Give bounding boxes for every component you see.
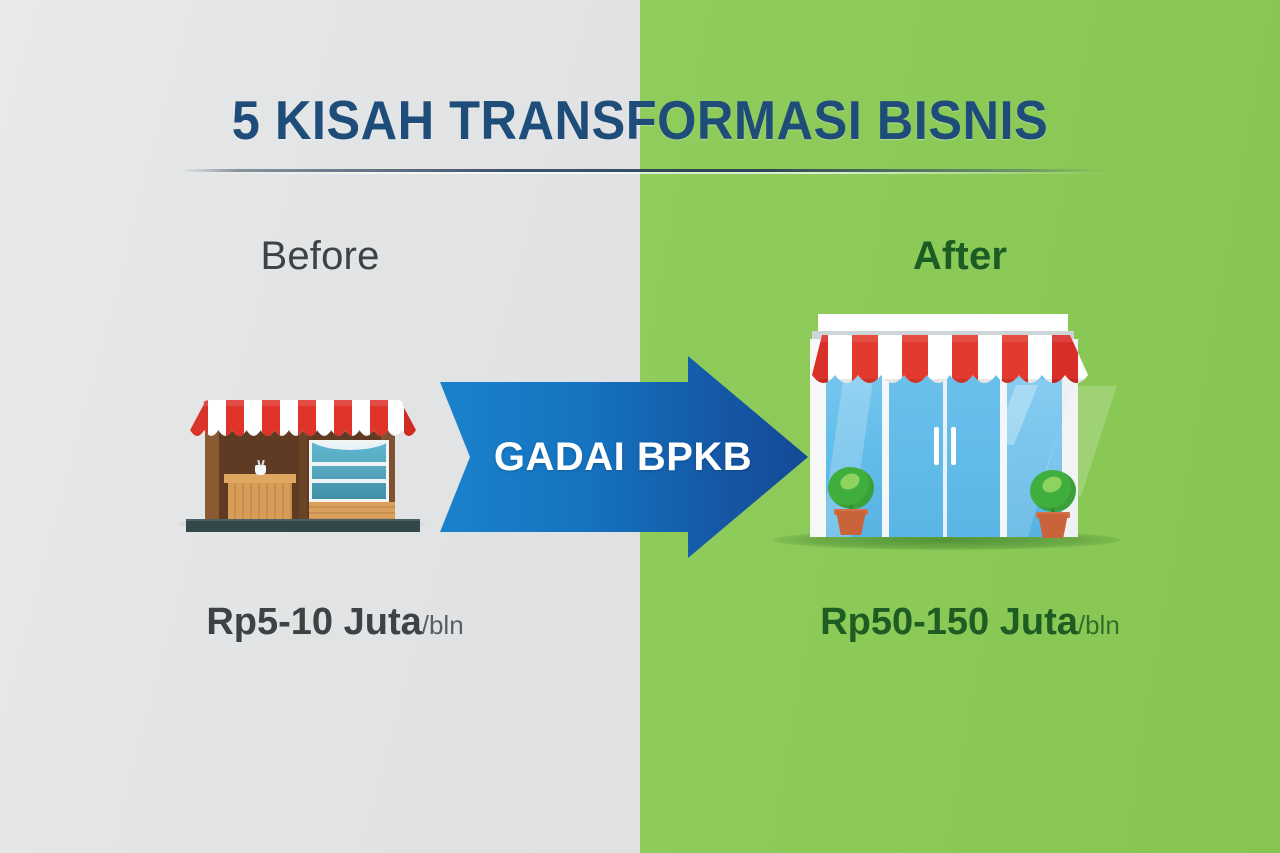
before-illustration-small-kiosk bbox=[178, 388, 428, 553]
kiosk-window-glass bbox=[312, 443, 386, 499]
potted-plant-left bbox=[824, 467, 878, 537]
potted-plant-right bbox=[1026, 470, 1080, 540]
plant-pot bbox=[836, 511, 866, 535]
after-illustration-modern-store bbox=[786, 312, 1106, 554]
kiosk-window-divider-1 bbox=[312, 462, 386, 466]
store-striped-awning bbox=[804, 335, 1088, 397]
before-value-unit: /bln bbox=[422, 610, 464, 640]
page-title: 5 KISAH TRANSFORMASI BISNIS bbox=[51, 88, 1229, 152]
before-label: Before bbox=[190, 234, 450, 279]
after-value: Rp50-150 Juta/bln bbox=[775, 601, 1165, 644]
kiosk-counter-front bbox=[228, 483, 292, 522]
kiosk-post-middle bbox=[299, 432, 307, 520]
kiosk-window-divider-2 bbox=[312, 479, 386, 483]
before-value: Rp5-10 Juta/bln bbox=[170, 601, 500, 644]
before-value-amount: Rp5-10 Juta bbox=[206, 601, 421, 643]
plant-highlight bbox=[1040, 473, 1064, 495]
after-label: After bbox=[830, 234, 1090, 279]
cup-icon bbox=[255, 465, 266, 475]
kiosk-counter-top bbox=[224, 474, 296, 483]
plant-pot bbox=[1038, 514, 1068, 538]
plant-highlight bbox=[838, 470, 862, 492]
title-divider-highlight bbox=[182, 172, 1106, 174]
kiosk-base-highlight bbox=[186, 519, 420, 521]
kiosk-window-valance bbox=[312, 443, 386, 450]
transformation-arrow: GADAI BPKB bbox=[438, 356, 810, 558]
after-value-amount: Rp50-150 Juta bbox=[820, 601, 1078, 643]
plant-foliage bbox=[828, 467, 874, 509]
arrow-label: GADAI BPKB bbox=[478, 356, 768, 558]
kiosk-striped-awning bbox=[190, 400, 416, 442]
after-value-unit: /bln bbox=[1078, 610, 1120, 640]
door-handle-right[interactable] bbox=[951, 427, 956, 465]
plant-foliage bbox=[1030, 470, 1076, 512]
infographic-canvas: 5 KISAH TRANSFORMASI BISNIS Before After bbox=[0, 0, 1280, 853]
store-roof-cornice bbox=[818, 314, 1068, 331]
door-handle-left[interactable] bbox=[934, 427, 939, 465]
